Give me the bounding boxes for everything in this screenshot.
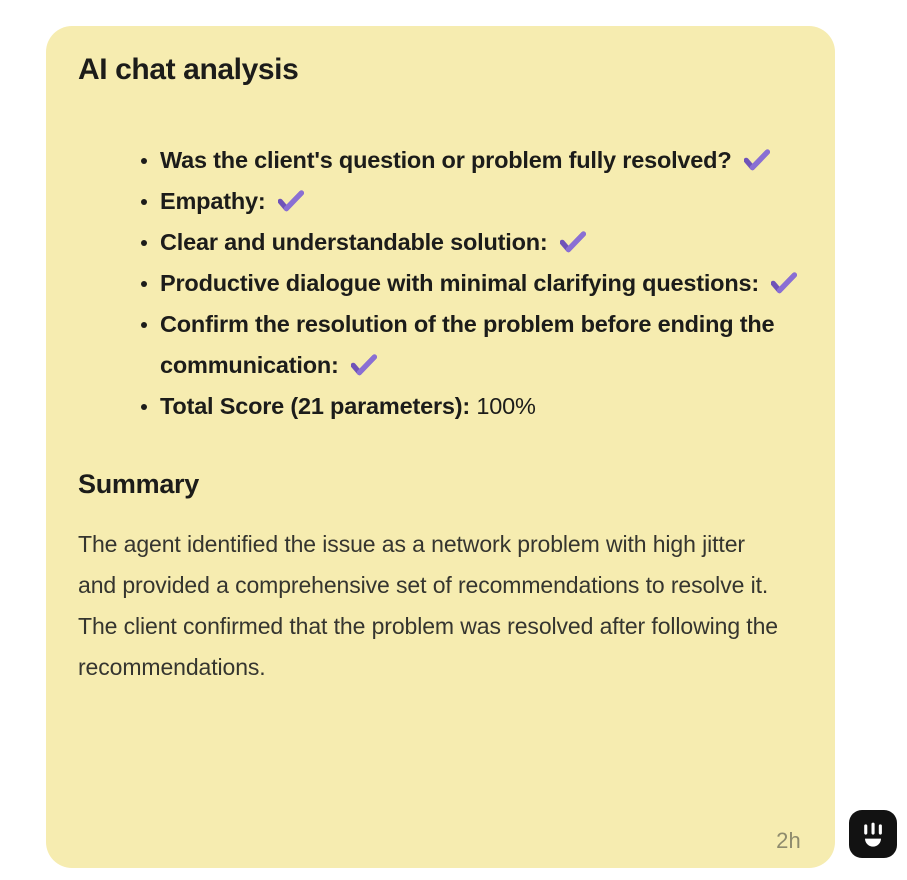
check-mark-icon xyxy=(744,149,770,171)
bullet-icon xyxy=(141,199,147,205)
page-title: AI chat analysis xyxy=(78,52,803,88)
message-timestamp: 2h xyxy=(776,828,801,854)
bullet-icon xyxy=(141,240,147,246)
summary-heading: Summary xyxy=(78,469,803,500)
check-mark-icon xyxy=(771,272,797,294)
list-item: Clear and understandable solution: xyxy=(78,222,803,263)
criteria-label: Confirm the resolution of the problem be… xyxy=(160,311,774,378)
check-mark-icon xyxy=(351,354,377,376)
bullet-icon xyxy=(141,322,147,328)
bullet-icon xyxy=(141,158,147,164)
chat-message-stage: AI chat analysis Was the client's questi… xyxy=(0,0,907,880)
avatar[interactable] xyxy=(849,810,897,858)
bullet-icon xyxy=(141,404,147,410)
card-footer: 2h xyxy=(776,828,801,854)
criteria-label: Total Score (21 parameters): xyxy=(160,393,470,419)
total-score-value: 100% xyxy=(476,393,535,419)
criteria-list: Was the client's question or problem ful… xyxy=(78,140,803,427)
criteria-label: Clear and understandable solution: xyxy=(160,229,548,255)
summary-body: The agent identified the issue as a netw… xyxy=(78,524,788,688)
list-item: Productive dialogue with minimal clarify… xyxy=(78,263,803,304)
list-item: Empathy: xyxy=(78,181,803,222)
ai-chat-analysis-card: AI chat analysis Was the client's questi… xyxy=(46,26,835,868)
intercom-face-icon xyxy=(858,819,888,849)
check-mark-icon xyxy=(560,231,586,253)
list-item: Was the client's question or problem ful… xyxy=(78,140,803,181)
bullet-icon xyxy=(141,281,147,287)
list-item: Total Score (21 parameters): 100% xyxy=(78,386,803,427)
criteria-label: Empathy: xyxy=(160,188,265,214)
criteria-label: Was the client's question or problem ful… xyxy=(160,147,731,173)
check-mark-icon xyxy=(278,190,304,212)
list-item: Confirm the resolution of the problem be… xyxy=(78,304,803,386)
criteria-label: Productive dialogue with minimal clarify… xyxy=(160,270,759,296)
